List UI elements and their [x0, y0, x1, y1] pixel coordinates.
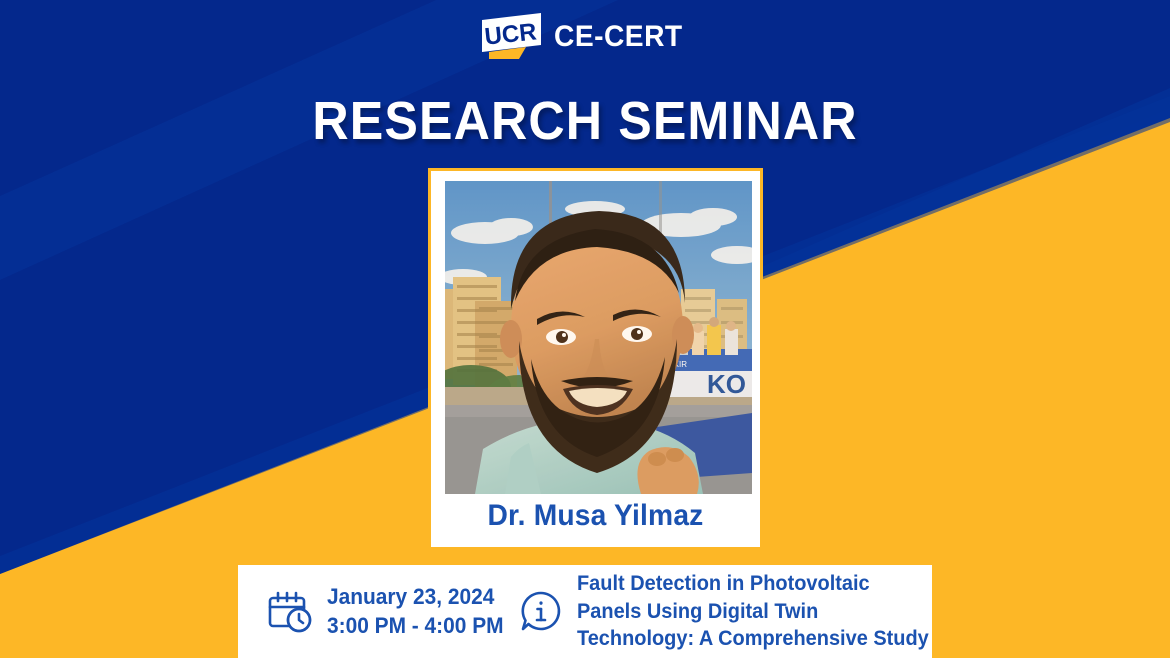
speaker-photo: KO BAKIR: [445, 181, 752, 494]
info-bubble-icon: [519, 589, 563, 633]
page-title: RESEARCH SEMINAR: [41, 94, 1129, 148]
event-time: 3:00 PM - 4:00 PM: [327, 613, 504, 638]
ucr-ce-cert-logo: UCR CE-CERT: [0, 11, 1170, 61]
event-topic-text: Fault Detection in Photovoltaic Panels U…: [577, 570, 929, 654]
ucr-logo-icon: UCR: [479, 12, 545, 60]
event-info-bar: January 23, 2024 3:00 PM - 4:00 PM Fault…: [238, 565, 932, 658]
event-datetime-block: January 23, 2024 3:00 PM - 4:00 PM: [238, 583, 513, 639]
event-topic-block: Fault Detection in Photovoltaic Panels U…: [513, 570, 947, 654]
event-date: January 23, 2024: [327, 584, 494, 609]
speaker-card: KO BAKIR: [428, 168, 763, 550]
event-datetime-text: January 23, 2024 3:00 PM - 4:00 PM: [327, 583, 504, 639]
ce-cert-wordmark: CE-CERT: [554, 22, 683, 52]
speaker-name: Dr. Musa Yilmaz: [441, 501, 750, 531]
event-topic-line-3: Technology: A Comprehensive Study: [577, 627, 929, 650]
event-topic-line-1: Fault Detection in Photovoltaic: [577, 572, 870, 595]
event-topic-line-2: Panels Using Digital Twin: [577, 600, 818, 623]
seminar-poster: UCR CE-CERT RESEARCH SEMINAR: [0, 0, 1170, 658]
calendar-clock-icon: [267, 590, 313, 634]
svg-text:UCR: UCR: [483, 18, 538, 50]
